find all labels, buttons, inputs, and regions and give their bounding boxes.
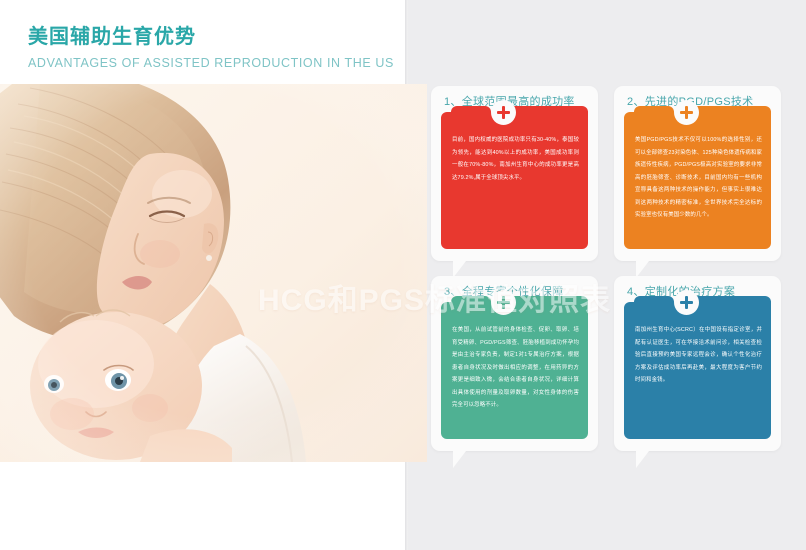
page-root: 美国辅助生育优势 ADVANTAGES OF ASSISTED REPRODUC… — [0, 0, 806, 550]
card-tail — [453, 451, 466, 468]
card-text-1: 目前，国内权威的医院成功率只有30-40%，泰国较为领先，能达到40%以上的成功… — [452, 134, 579, 184]
plus-horizontal-bar — [497, 301, 510, 304]
card-tail — [636, 451, 649, 468]
card-notch-right — [688, 106, 771, 118]
plus-horizontal-bar — [497, 111, 510, 114]
plus-horizontal-bar — [680, 111, 693, 114]
card-notch-left — [451, 106, 491, 118]
card-notch-left — [634, 106, 674, 118]
page-subtitle: ADVANTAGES OF ASSISTED REPRODUCTION IN T… — [28, 56, 398, 70]
plus-horizontal-bar — [680, 301, 693, 304]
card-notch-left — [451, 296, 491, 308]
page-title: 美国辅助生育优势 — [28, 24, 398, 50]
advantage-card-1[interactable]: 1、全球范围最高的成功率 目前，国内权威的医院成功率只有30-40%，泰国较为领… — [431, 86, 598, 261]
hero-photo — [0, 84, 427, 462]
card-body-3: 在美国，从前试管前的身体检查、促卵、取卵、培育受精卵、PGD/PGS筛查、胚胎移… — [441, 302, 588, 439]
medical-plus-icon — [491, 100, 516, 125]
advantage-card-2[interactable]: 2、先进的PGD/PGS技术 美国PGD/PGS技术不仅可以100%的选择性别，… — [614, 86, 781, 261]
card-text-3: 在美国，从前试管前的身体检查、促卵、取卵、培育受精卵、PGD/PGS筛查、胚胎移… — [452, 324, 579, 412]
medical-plus-icon — [674, 100, 699, 125]
advantage-card-4[interactable]: 4、定制化的治疗方案 南加州生育中心(SCRC）在中国设有指定诊室，并配有认证医… — [614, 276, 781, 451]
card-notch-right — [505, 296, 588, 308]
card-body-2: 美国PGD/PGS技术不仅可以100%的选择性别，还可以全部筛查23对染色体、1… — [624, 112, 771, 249]
card-notch-right — [688, 296, 771, 308]
medical-plus-icon — [674, 290, 699, 315]
advantage-card-3[interactable]: 3、全程专家个性化保障 在美国，从前试管前的身体检查、促卵、取卵、培育受精卵、P… — [431, 276, 598, 451]
card-text-4: 南加州生育中心(SCRC）在中国设有指定诊室，并配有认证医生，可在华接洽术前问诊… — [635, 324, 762, 387]
card-body-4: 南加州生育中心(SCRC）在中国设有指定诊室，并配有认证医生，可在华接洽术前问诊… — [624, 302, 771, 439]
medical-plus-icon — [491, 290, 516, 315]
card-text-2: 美国PGD/PGS技术不仅可以100%的选择性别，还可以全部筛查23对染色体、1… — [635, 134, 762, 222]
mother-and-baby-illustration — [0, 84, 427, 462]
card-notch-right — [505, 106, 588, 118]
card-notch-left — [634, 296, 674, 308]
card-body-1: 目前，国内权威的医院成功率只有30-40%，泰国较为领先，能达到40%以上的成功… — [441, 112, 588, 249]
page-header: 美国辅助生育优势 ADVANTAGES OF ASSISTED REPRODUC… — [28, 24, 398, 70]
